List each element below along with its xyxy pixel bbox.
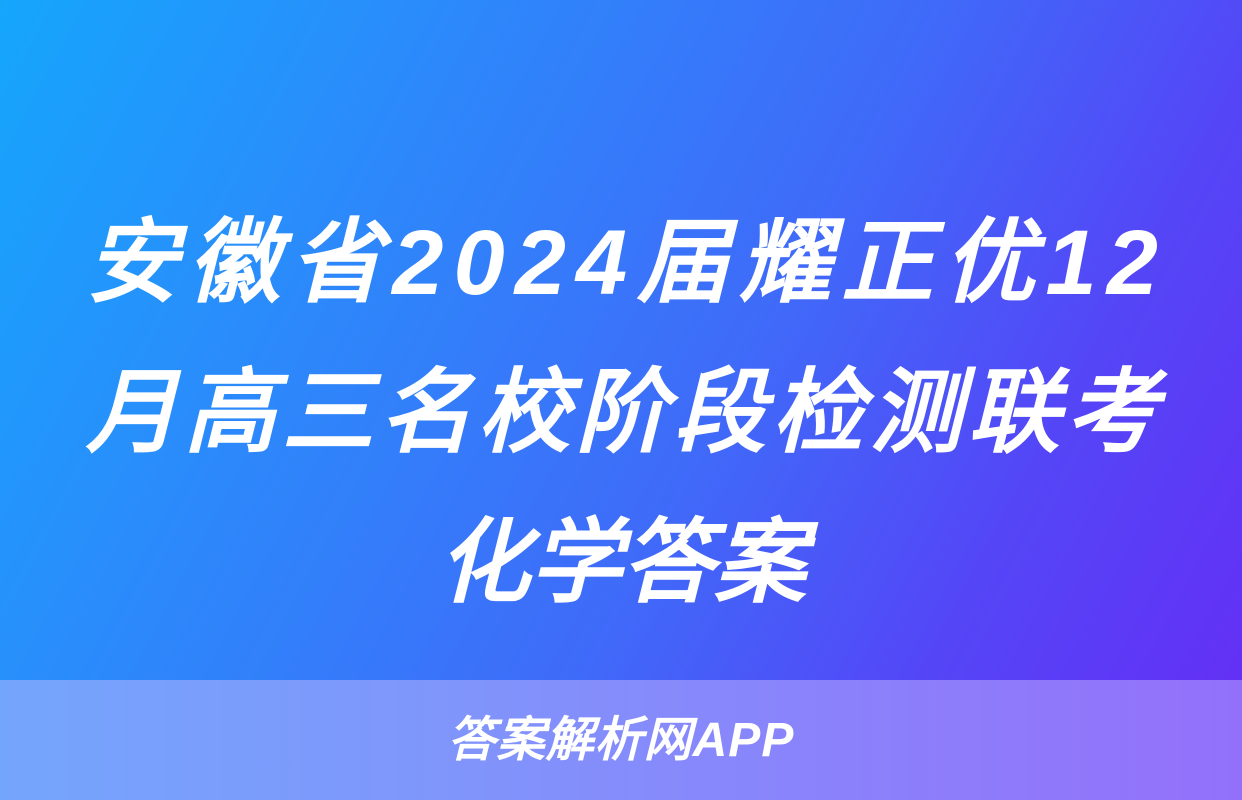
title-line-1: 安 徽 省 2 0 2 4 届 耀 正 优 1 2 bbox=[86, 188, 1158, 338]
title-line-2-char-1: 高 bbox=[184, 338, 276, 488]
title-line-1-char-4: 0 bbox=[453, 188, 504, 338]
title-line-2: 月 高 三 名 校 阶 段 检 测 联 考 bbox=[86, 338, 1158, 488]
title-line-2-char-6: 段 bbox=[674, 338, 766, 488]
answer-cover-card: 安 徽 省 2 0 2 4 届 耀 正 优 1 2 月 高 三 名 校 阶 bbox=[0, 0, 1242, 800]
title-line-1-char-7: 届 bbox=[637, 188, 729, 338]
title-line-1-char-3: 2 bbox=[392, 188, 443, 338]
title-line-1-char-0: 安 bbox=[86, 188, 178, 338]
title-line-1-char-8: 耀 bbox=[739, 188, 831, 338]
title-line-1-char-10: 优 bbox=[943, 188, 1035, 338]
title-line-1-char-5: 2 bbox=[515, 188, 566, 338]
title-line-1-char-1: 徽 bbox=[188, 188, 280, 338]
title-line-2-char-0: 月 bbox=[86, 338, 178, 488]
title-line-1-char-2: 省 bbox=[290, 188, 382, 338]
hero-gradient-banner: 安 徽 省 2 0 2 4 届 耀 正 优 1 2 月 高 三 名 校 阶 bbox=[0, 0, 1242, 680]
footer-brand-band: 答案解析网APP bbox=[0, 680, 1242, 800]
title-line-2-char-10: 考 bbox=[1066, 338, 1158, 488]
title-line-2-char-7: 检 bbox=[772, 338, 864, 488]
title-line-1-char-11: 1 bbox=[1045, 188, 1096, 338]
title-line-3: 化学答案 bbox=[86, 488, 1158, 638]
title-line-2-char-2: 三 bbox=[282, 338, 374, 488]
title-line-1-char-12: 2 bbox=[1107, 188, 1158, 338]
title-block: 安 徽 省 2 0 2 4 届 耀 正 优 1 2 月 高 三 名 校 阶 bbox=[86, 188, 1158, 638]
title-line-2-char-9: 联 bbox=[968, 338, 1060, 488]
title-line-1-char-6: 4 bbox=[576, 188, 627, 338]
title-line-2-char-4: 校 bbox=[478, 338, 570, 488]
footer-brand-text: 答案解析网APP bbox=[448, 713, 795, 769]
title-line-2-char-3: 名 bbox=[380, 338, 472, 488]
title-line-2-char-5: 阶 bbox=[576, 338, 668, 488]
title-line-2-char-8: 测 bbox=[870, 338, 962, 488]
title-line-1-char-9: 正 bbox=[841, 188, 933, 338]
